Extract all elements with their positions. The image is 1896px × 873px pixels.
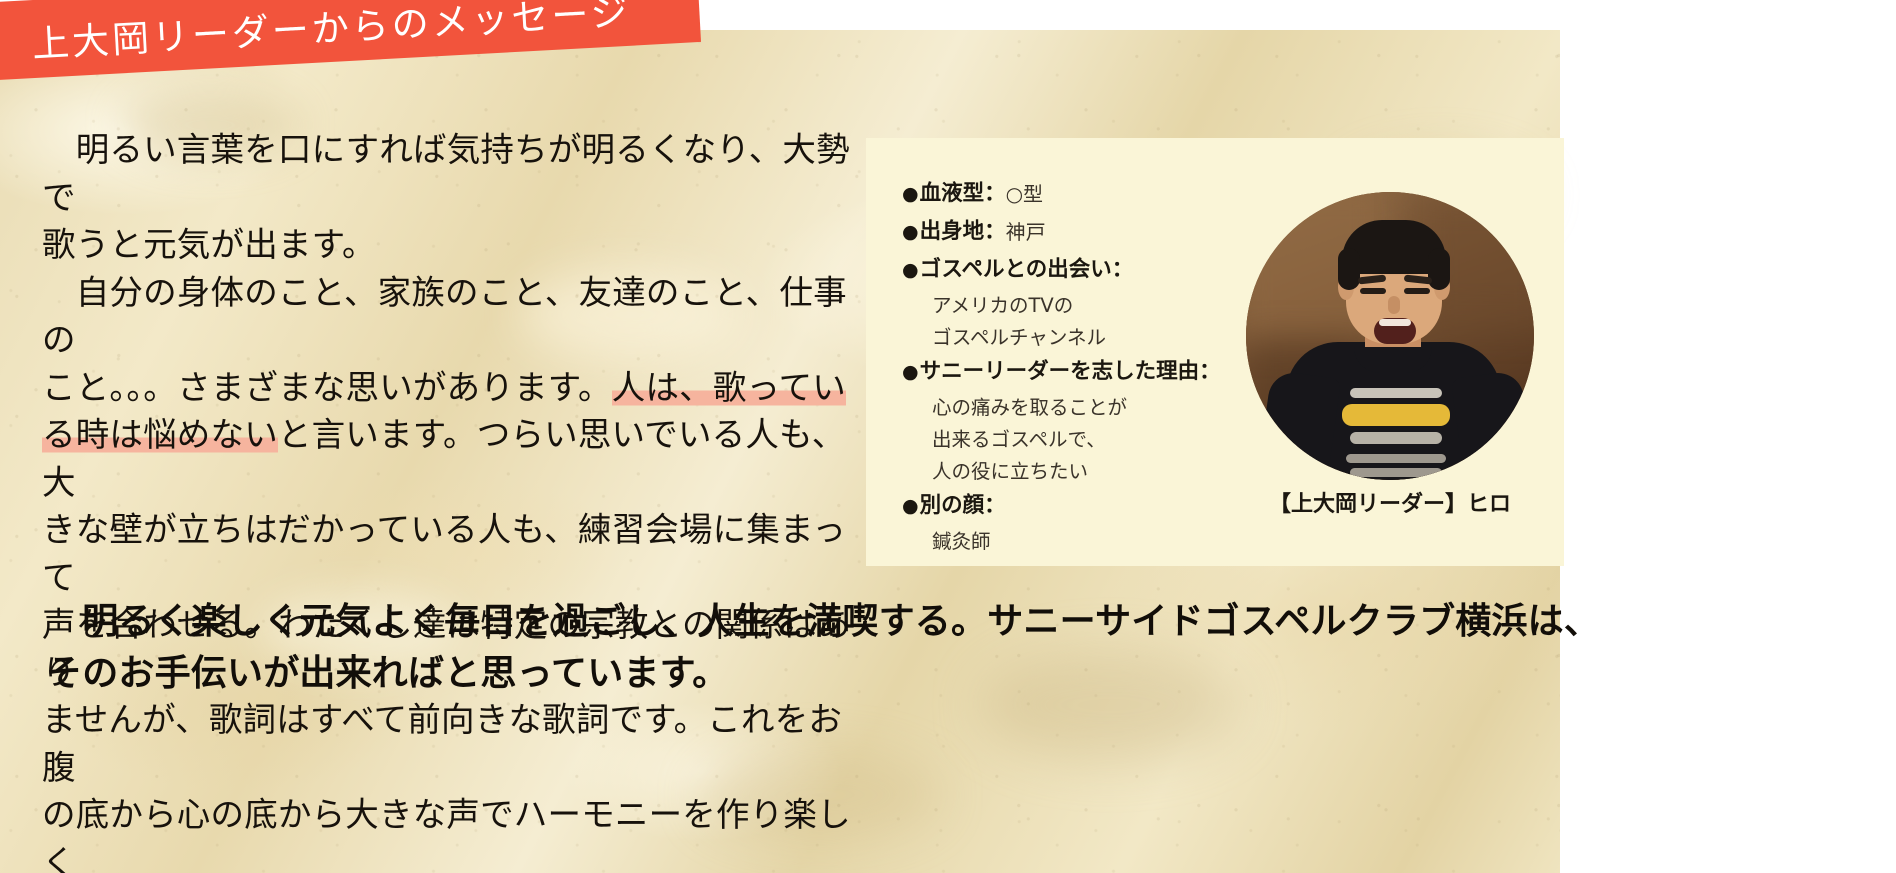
bullet-icon: ●	[902, 354, 919, 390]
closing-line: そのお手伝いが出来ればと思っています。	[46, 648, 1846, 700]
message-line: 歌うと元気が出ます。	[42, 221, 852, 269]
highlighted-text: る時は悩めない	[42, 415, 278, 454]
profile-item-value: 神戸	[1006, 214, 1046, 250]
profile-item-label: サニーリーダーを志した理由：	[920, 354, 1221, 390]
profile-item-label: 別の顔：	[920, 488, 1006, 524]
message-line: 自分の身体のこと、家族のこと、友達のこと、仕事の	[42, 269, 852, 364]
message-line: 明るい言葉を口にすれば気持ちが明るくなり、大勢で	[42, 126, 852, 221]
closing-line: 明るく楽しく元気よく毎日を過ごし、人生を満喫する。サニーサイドゴスペルクラブ横浜…	[46, 596, 1846, 648]
profile-item-label: 血液型：	[920, 176, 1006, 212]
message-body: 明るい言葉を口にすれば気持ちが明るくなり、大勢で 歌うと元気が出ます。 自分の身…	[42, 126, 852, 873]
leader-photo	[1246, 192, 1534, 480]
page-root: 上大岡リーダーからのメッセージ 明るい言葉を口にすれば気持ちが明るくなり、大勢で…	[0, 0, 1896, 873]
profile-item-value: ○型	[1006, 176, 1043, 212]
profile-item-detail: 鍼灸師	[932, 526, 1332, 558]
message-line: こと。。。さまざまな思いがあります。人は、歌ってい	[42, 364, 852, 412]
message-text: こと。。。さまざまな思いがあります。	[42, 368, 612, 407]
message-line: る時は悩めないと言います。つらい思いでいる人も、大	[42, 411, 852, 506]
message-line: ませんが、歌詞はすべて前向きな歌詞です。これをお腹	[42, 696, 852, 791]
highlighted-text: 人は、歌ってい	[612, 368, 846, 407]
bullet-icon: ●	[902, 176, 919, 212]
message-line: きな壁が立ちはだかっている人も、練習会場に集まって	[42, 506, 852, 601]
bullet-icon: ●	[902, 488, 919, 524]
photo-caption: 【上大岡リーダー】ヒロ	[1232, 486, 1548, 518]
closing-statement: 明るく楽しく元気よく毎日を過ごし、人生を満喫する。サニーサイドゴスペルクラブ横浜…	[46, 596, 1846, 700]
message-line: の底から心の底から大きな声でハーモニーを作り楽しく	[42, 791, 852, 873]
bullet-icon: ●	[902, 214, 919, 250]
photo-illustration	[1246, 192, 1534, 480]
profile-item-label: ゴスペルとの出会い：	[920, 252, 1134, 288]
bullet-icon: ●	[902, 252, 919, 288]
profile-item-label: 出身地：	[920, 214, 1006, 250]
